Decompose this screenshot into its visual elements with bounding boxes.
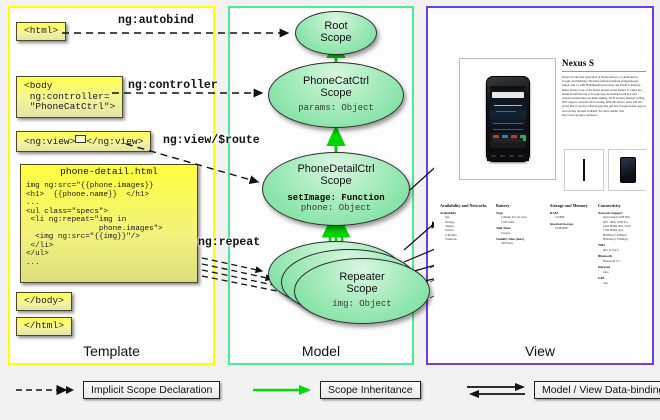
scope-phonecatctrl-title: PhoneCatCtrl Scope xyxy=(303,76,369,100)
panel-model-label: Model xyxy=(230,343,412,359)
spec-values-wifi: 802.11 b/g/n xyxy=(598,248,646,252)
phone-screen xyxy=(490,86,526,148)
scope-root-title: Root Scope xyxy=(320,21,351,45)
spec-column-battery: Battery Type Lithium Ion (Li-Ion) 1500 m… xyxy=(496,203,546,246)
legend-label-model-view-data-binding: Model / View Data-binding xyxy=(534,381,660,399)
phone-statusbar xyxy=(490,86,526,90)
code-block-ngview: <ng:view></ng:view> xyxy=(16,131,151,152)
scope-phonedetailctrl-prop-setimage: setImage: Function xyxy=(287,193,384,203)
diagram-canvas: Template Model View <html> <body ng:cont… xyxy=(0,0,660,420)
legend-label-scope-inheritance: Scope Inheritance xyxy=(320,381,421,399)
spec-header-battery: Battery xyxy=(496,203,546,209)
connector-label-ng-autobind: ng:autobind xyxy=(118,14,194,27)
panel-template-label: Template xyxy=(10,343,213,359)
phone-wallpaper xyxy=(490,99,526,133)
thumbnail-phone-angle[interactable] xyxy=(608,149,646,191)
spec-values-standby: 428 hours xyxy=(496,241,546,245)
code-block-html-close: </html> xyxy=(16,317,72,336)
scope-phonedetailctrl-title: PhoneDetailCtrl Scope xyxy=(297,164,374,188)
spec-values-availability: M1, Orange, Singtel, Telstra, T-Mobile, … xyxy=(440,215,492,241)
title-divider xyxy=(562,71,646,72)
phone-search-widget xyxy=(492,92,524,98)
spec-header-storage: Storage and Memory xyxy=(550,203,596,209)
product-description: Nexus S is the next generation of Nexus … xyxy=(562,75,646,117)
scope-repeater-prop-img: img: Object xyxy=(332,299,391,309)
phone-home-button-icon xyxy=(509,155,514,157)
scope-repeater-title: Repeater Scope xyxy=(339,272,384,296)
phone-search-button-icon xyxy=(518,155,523,157)
thumbnail-phone-front[interactable] xyxy=(564,149,604,191)
legend-dashed-arrow-icon xyxy=(14,380,78,400)
legend-double-arrow-icon xyxy=(465,380,529,400)
connector-label-ng-repeat: ng:repeat xyxy=(198,236,260,249)
scope-phonecatctrl-prop-params: params: Object xyxy=(298,103,374,113)
scope-repeater[interactable]: Repeater Scope img: Object xyxy=(294,258,430,324)
spec-column-availability: Availability and Networks Availability M… xyxy=(440,203,492,241)
spec-table: Availability and Networks Availability M… xyxy=(440,203,646,298)
spec-values-gps: true xyxy=(598,281,646,285)
code-block-partial: img ng:src="{{phone.images}} <h1> {{phon… xyxy=(20,164,198,283)
spec-values-battery-type: Lithium Ion (Li-Ion) 1500 mAh xyxy=(496,215,546,224)
phone-back-button-icon xyxy=(491,155,496,157)
scope-phonedetailctrl-prop-phone: phone: Object xyxy=(301,203,371,213)
spec-values-ram: 512MB xyxy=(550,215,596,219)
phone-menu-button-icon xyxy=(500,155,505,157)
legend-item-implicit-scope-declaration: Implicit Scope Declaration xyxy=(14,380,220,400)
spec-column-storage: Storage and Memory RAM 512MB Internal St… xyxy=(550,203,596,231)
phone-button-row xyxy=(487,151,529,161)
scope-phonedetailctrl[interactable]: PhoneDetailCtrl Scope setImage: Function… xyxy=(262,152,410,226)
code-block-body-open: <body ng:controller= "PhoneCatCtrl"> xyxy=(16,76,123,118)
partial-filename: phone-detail.html xyxy=(20,164,198,177)
code-block-body-close: </body> xyxy=(16,292,72,311)
spec-values-infrared: false xyxy=(598,270,646,274)
thumbnail-phone-angle-image xyxy=(620,157,636,183)
legend-label-implicit-scope-declaration: Implicit Scope Declaration xyxy=(83,381,220,399)
wallpaper-line-yellow xyxy=(494,105,522,106)
phone-tray xyxy=(493,138,523,143)
phone-app-dock xyxy=(490,133,526,148)
nexus-s-phone-illustration xyxy=(486,76,530,162)
connector-label-ng-view-route: ng:view/$route xyxy=(163,134,260,147)
legend-item-model-view-data-binding: Model / View Data-binding xyxy=(465,380,660,400)
partial-code-text: img ng:src="{{phone.images}} <h1> {{phon… xyxy=(26,182,193,267)
spec-column-connectivity: Connectivity Network Support Quad-band G… xyxy=(598,203,646,285)
product-title: Nexus S xyxy=(562,58,594,68)
legend: Implicit Scope Declaration Scope Inherit… xyxy=(0,374,660,420)
phone-hero-image[interactable] xyxy=(459,58,556,180)
connector-label-ng-controller: ng:controller xyxy=(128,79,218,92)
spec-values-talk-time: 6 hours xyxy=(496,231,546,235)
ngview-close-tag: </ng:view> xyxy=(86,136,143,147)
ngview-open-tag: <ng:view> xyxy=(24,136,75,147)
wallpaper-line-blue xyxy=(493,129,523,130)
wallpaper-line-green xyxy=(496,111,516,112)
wallpaper-line-red xyxy=(493,123,523,124)
spec-values-network-support: Quad-band GSM 850, 900, 1800, 1900 Tri- … xyxy=(598,215,646,241)
spec-values-bluetooth: Bluetooth 2.1 xyxy=(598,259,646,263)
scope-phonecatctrl[interactable]: PhoneCatCtrl Scope params: Object xyxy=(268,62,404,128)
legend-item-scope-inheritance: Scope Inheritance xyxy=(251,380,421,400)
thumbnail-phone-front-image xyxy=(583,159,585,181)
spec-header-availability: Availability and Networks xyxy=(440,203,492,209)
ngview-placeholder-icon xyxy=(75,135,86,143)
spec-values-internal-storage: 16384MB xyxy=(550,226,596,230)
code-block-html-open: <html> xyxy=(16,22,66,41)
view-rendered-page: Nexus S Nexus S is the next generation o… xyxy=(434,14,646,346)
spec-header-connectivity: Connectivity xyxy=(598,203,646,209)
legend-green-arrow-icon xyxy=(251,380,315,400)
scope-root[interactable]: Root Scope xyxy=(295,11,377,55)
